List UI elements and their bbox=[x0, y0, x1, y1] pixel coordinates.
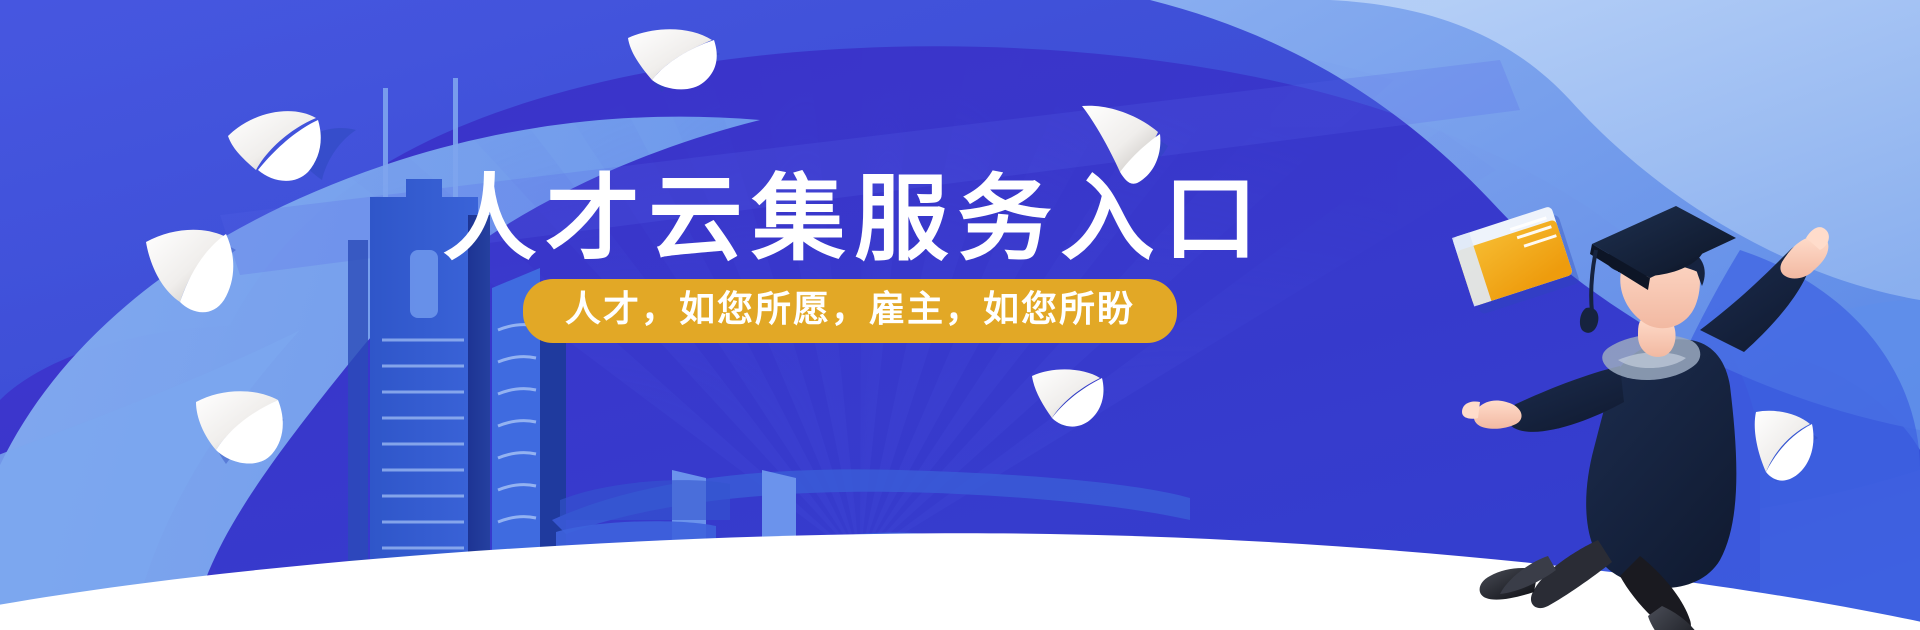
banner-background-art bbox=[0, 0, 1920, 630]
hero-banner: 人才云集服务入口 人才，如您所愿，雇主，如您所盼 bbox=[0, 0, 1920, 630]
